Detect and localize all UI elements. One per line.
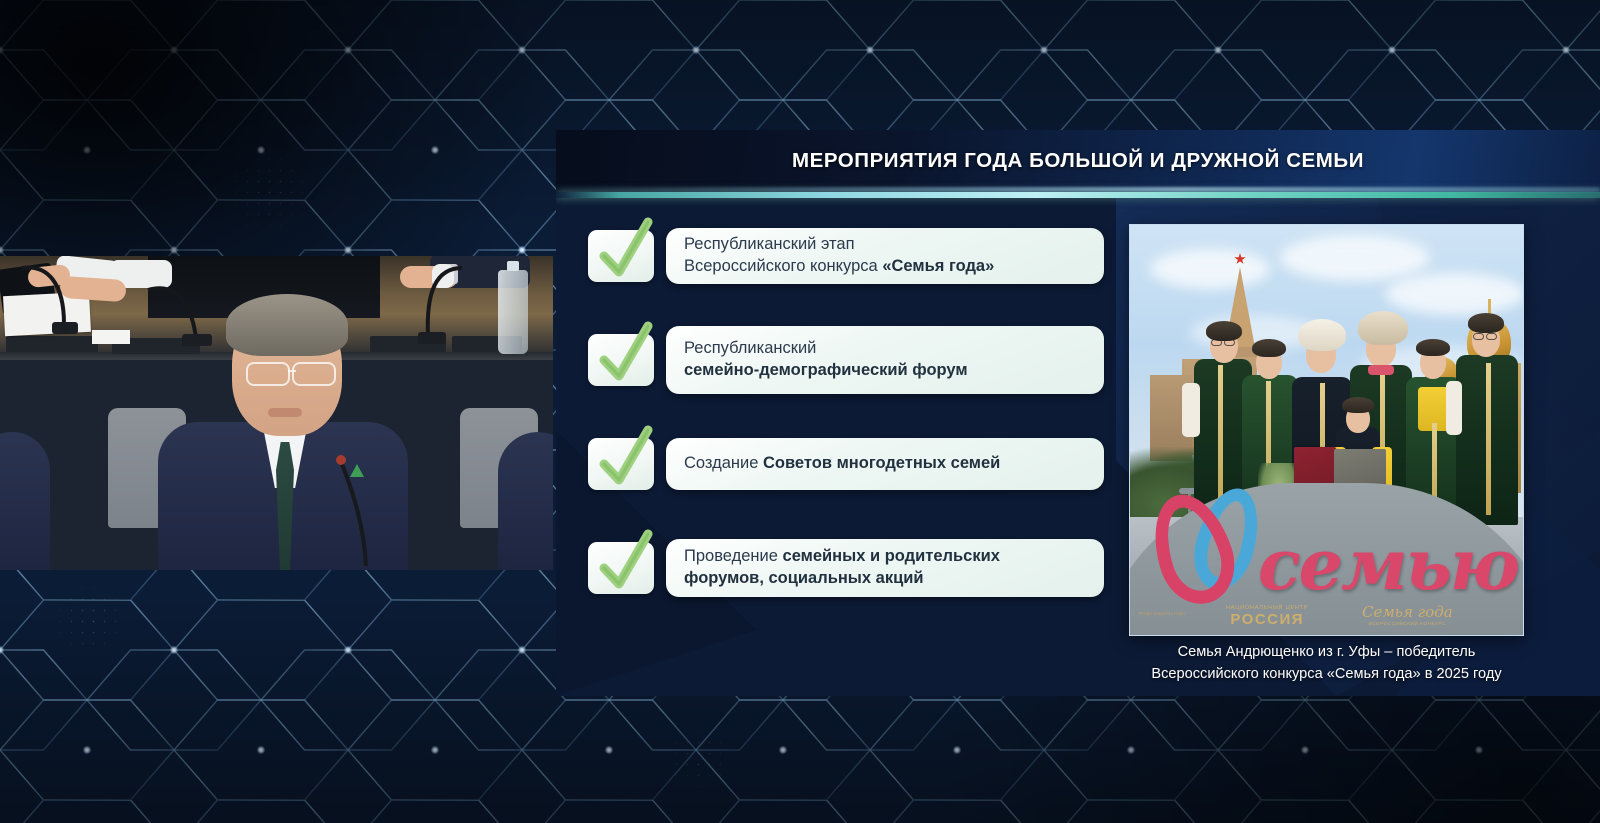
slide-title: МЕРОПРИЯТИЯ ГОДА БОЛЬШОЙ И ДРУЖНОЙ СЕМЬИ bbox=[792, 149, 1364, 173]
caption-line-2: Всероссийского конкурса «Семья года» в 2… bbox=[1129, 664, 1524, 686]
checklist-card-2: Республиканский семейно-демографический … bbox=[666, 326, 1104, 394]
checkbox-4[interactable] bbox=[588, 542, 654, 594]
checklist-card-3: Создание Советов многодетных семей bbox=[666, 438, 1104, 490]
checkbox-3[interactable] bbox=[588, 438, 654, 490]
microphone-icon-speaker bbox=[330, 434, 374, 570]
checklist-item[interactable]: Проведение семейных и родительских форум… bbox=[588, 538, 1104, 598]
check-mark-icon bbox=[596, 426, 654, 490]
photo-panel: семью ТРУДА ЗАЩИТЫ ГОДА НАЦИОНАЛЬНЫЙ ЦЕН… bbox=[1129, 224, 1524, 636]
check-mark-icon bbox=[596, 530, 654, 594]
card4-line1-plain: Проведение bbox=[684, 547, 783, 565]
checklist: Республиканский этап Всероссийского конк… bbox=[588, 226, 1104, 598]
mic-base-left bbox=[52, 322, 78, 334]
water-bottle bbox=[498, 270, 528, 354]
eyeglasses-icon bbox=[1211, 339, 1222, 346]
broadcast-screen: МЕРОПРИЯТИЯ ГОДА БОЛЬШОЙ И ДРУЖНОЙ СЕМЬИ… bbox=[0, 0, 1600, 823]
caption-line-1: Семья Андрющенко из г. Уфы – победитель bbox=[1129, 642, 1524, 664]
checklist-card-1: Республиканский этап Всероссийского конк… bbox=[666, 228, 1104, 284]
logo-nc-large: РОССИЯ bbox=[1226, 611, 1308, 628]
card4-line2-bold: форумов, социальных акций bbox=[684, 569, 924, 587]
slide-header: МЕРОПРИЯТИЯ ГОДА БОЛЬШОЙ И ДРУЖНОЙ СЕМЬИ bbox=[556, 130, 1600, 192]
eyeglasses-icon bbox=[246, 362, 290, 386]
checklist-card-4: Проведение семейных и родительских форум… bbox=[666, 539, 1104, 597]
family-photo: семью ТРУДА ЗАЩИТЫ ГОДА НАЦИОНАЛЬНЫЙ ЦЕН… bbox=[1129, 224, 1524, 636]
card2-line1: Республиканский bbox=[684, 339, 816, 357]
banner-text: семью bbox=[1258, 523, 1518, 606]
check-mark-icon bbox=[596, 218, 654, 282]
mic-base-right bbox=[418, 332, 446, 344]
card4-line1-bold: семейных и родительских bbox=[783, 547, 1000, 565]
logo-national-center: НАЦИОНАЛЬНЫЙ ЦЕНТР РОССИЯ bbox=[1226, 605, 1308, 628]
card3-line1-plain: Создание bbox=[684, 454, 763, 472]
eyeglasses-icon bbox=[1473, 333, 1484, 340]
presentation-slide: МЕРОПРИЯТИЯ ГОДА БОЛЬШОЙ И ДРУЖНОЙ СЕМЬИ… bbox=[556, 130, 1600, 696]
checkbox-2[interactable] bbox=[588, 334, 654, 386]
logo-corner: ТРУДА ЗАЩИТЫ ГОДА bbox=[1138, 611, 1185, 617]
conference-video-feed bbox=[0, 256, 553, 570]
checklist-item[interactable]: Создание Советов многодетных семей bbox=[588, 434, 1104, 494]
checkbox-1[interactable] bbox=[588, 230, 654, 282]
logo-contest: Семья года ВСЕРОССИЙСКИЙ КОНКУРС bbox=[1362, 603, 1453, 626]
checklist-item[interactable]: Республиканский этап Всероссийского конк… bbox=[588, 226, 1104, 286]
logo-contest-large: Семья года bbox=[1362, 603, 1453, 621]
photo-caption: Семья Андрющенко из г. Уфы – победитель … bbox=[1129, 642, 1524, 686]
card3-line1-bold: Советов многодетных семей bbox=[763, 454, 1000, 472]
checklist-item[interactable]: Республиканский семейно-демографический … bbox=[588, 330, 1104, 390]
nameplate bbox=[92, 330, 130, 344]
card1-line2-plain: Всероссийского конкурса bbox=[684, 257, 882, 275]
check-mark-icon bbox=[596, 322, 654, 386]
card1-line1: Республиканский этап bbox=[684, 235, 855, 253]
logo-contest-small: ВСЕРОССИЙСКИЙ КОНКУРС bbox=[1362, 621, 1453, 626]
card1-line2-bold: «Семья года» bbox=[882, 257, 994, 275]
card2-line2-bold: семейно-демографический форум bbox=[684, 361, 968, 379]
header-accent-line bbox=[556, 192, 1600, 198]
mic-base-mid bbox=[182, 334, 212, 346]
